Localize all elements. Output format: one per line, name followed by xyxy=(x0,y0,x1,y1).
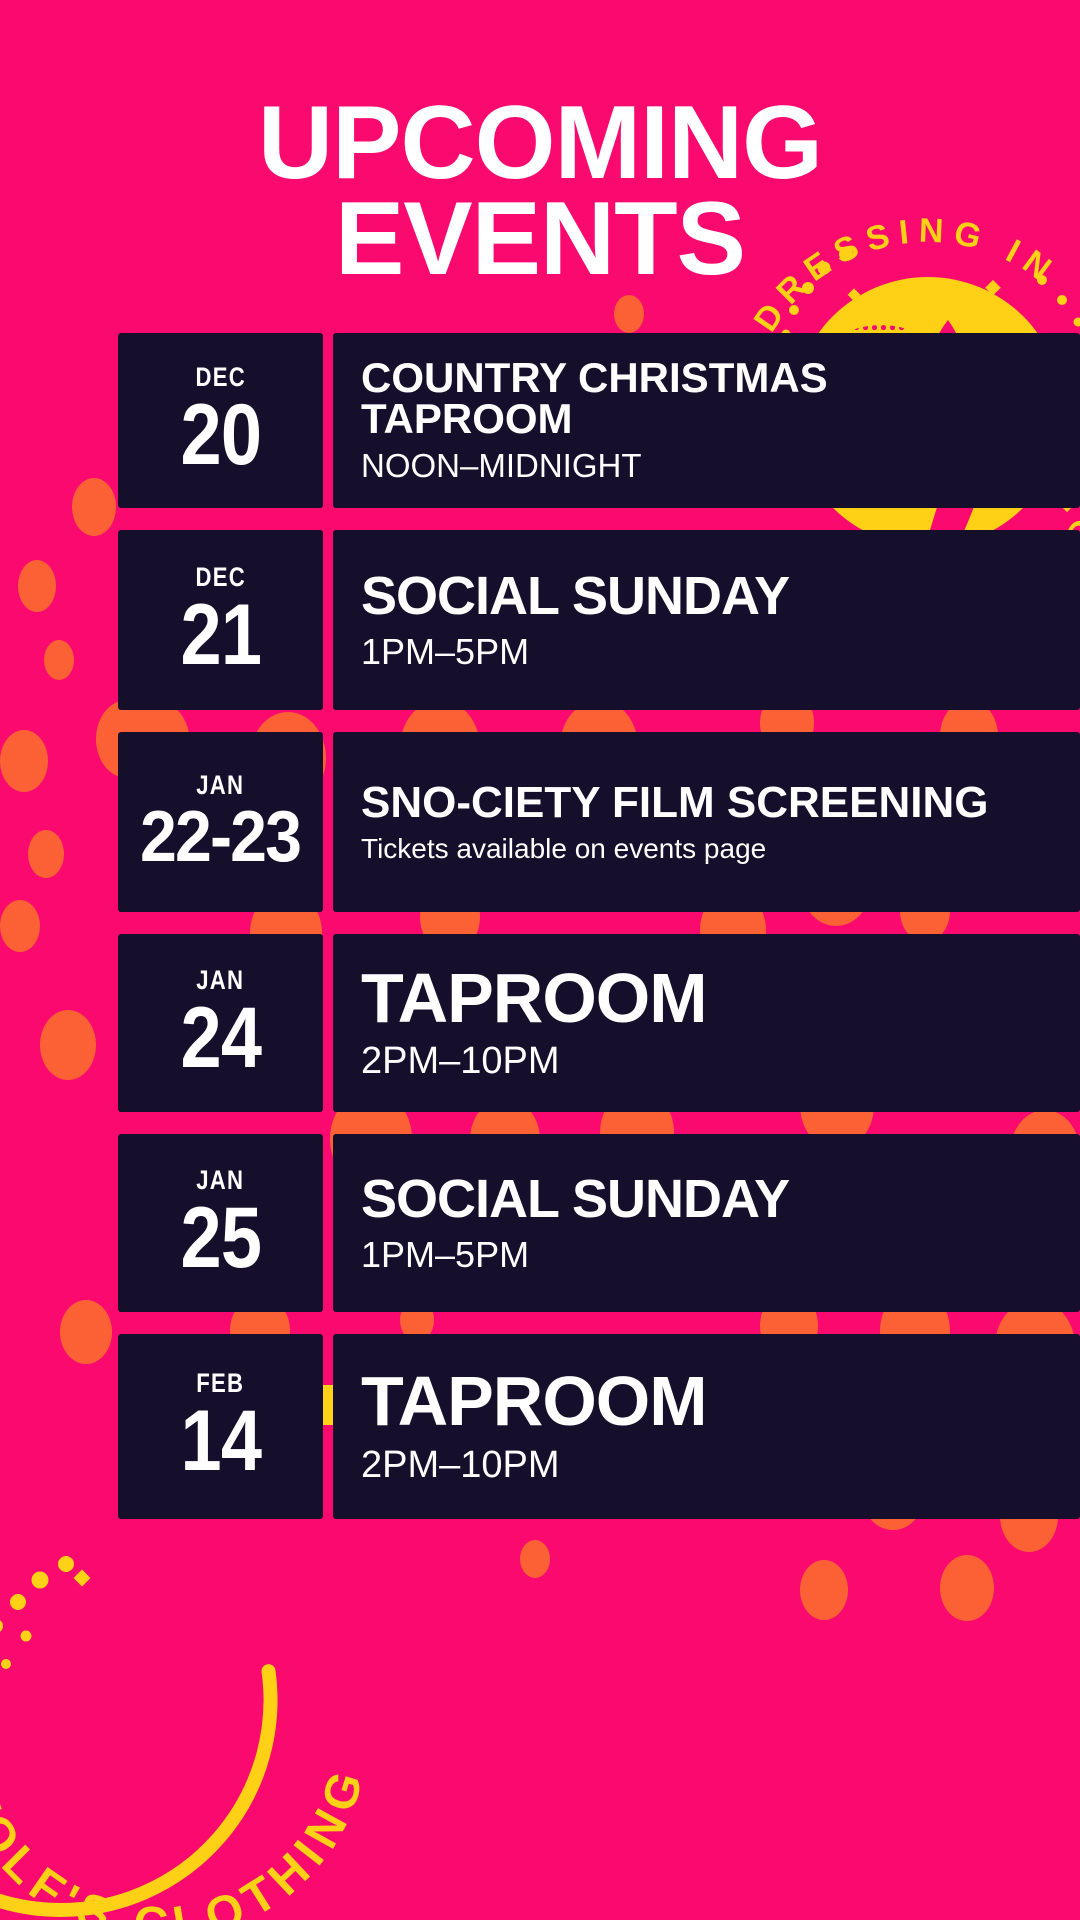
event-info-box: SNO-CIETY FILM SCREENING Tickets availab… xyxy=(333,732,1080,912)
event-title: SOCIAL SUNDAY xyxy=(361,1173,1050,1226)
page-title: UPCOMING EVENTS xyxy=(0,96,1080,287)
event-row[interactable]: FEB 14 TAPROOM 2PM–10PM xyxy=(0,1334,1080,1519)
event-date-box: DEC 20 xyxy=(118,333,323,508)
event-month: JAN xyxy=(197,772,245,799)
event-day: 21 xyxy=(180,597,261,674)
event-row[interactable]: JAN 22-23 SNO-CIETY FILM SCREENING Ticke… xyxy=(0,732,1080,912)
event-subtitle: NOON–MIDNIGHT xyxy=(361,449,1050,484)
event-info-box: SOCIAL SUNDAY 1PM–5PM xyxy=(333,1134,1080,1312)
event-date-box: JAN 25 xyxy=(118,1134,323,1312)
event-title: TAPROOM xyxy=(361,1367,1050,1436)
decorative-dot xyxy=(614,295,644,333)
event-date-box: JAN 24 xyxy=(118,934,323,1112)
event-date-box: JAN 22-23 xyxy=(118,732,323,912)
event-date-box: FEB 14 xyxy=(118,1334,323,1519)
event-subtitle: 2PM–10PM xyxy=(361,1042,1050,1082)
event-title: SOCIAL SUNDAY xyxy=(361,570,1050,623)
event-day: 20 xyxy=(180,397,261,474)
event-row[interactable]: JAN 25 SOCIAL SUNDAY 1PM–5PM xyxy=(0,1134,1080,1312)
event-subtitle: 2PM–10PM xyxy=(361,1446,1050,1486)
event-info-box: COUNTRY CHRISTMAS TAPROOM NOON–MIDNIGHT xyxy=(333,333,1080,508)
event-info-box: SOCIAL SUNDAY 1PM–5PM xyxy=(333,530,1080,710)
brand-arc-text-wolfs: WOLF'S CLOTHING xyxy=(0,1759,376,1920)
row-divider xyxy=(323,1134,333,1312)
decorative-dot xyxy=(940,1555,994,1621)
event-title: SNO-CIETY FILM SCREENING xyxy=(361,781,1050,824)
event-day: 25 xyxy=(180,1200,261,1277)
event-row[interactable]: DEC 20 COUNTRY CHRISTMAS TAPROOM NOON–MI… xyxy=(0,333,1080,508)
event-date-box: DEC 21 xyxy=(118,530,323,710)
title-line-one: UPCOMING xyxy=(0,96,1080,192)
row-divider xyxy=(323,530,333,710)
event-info-box: TAPROOM 2PM–10PM xyxy=(333,934,1080,1112)
row-divider xyxy=(323,333,333,508)
row-divider xyxy=(323,1334,333,1519)
row-divider xyxy=(323,732,333,912)
title-line-two: EVENTS xyxy=(0,192,1080,288)
poster-canvas: DRESSING IN CLOTHING WOLF'S CLOTHING xyxy=(0,0,1080,1920)
event-day: 22-23 xyxy=(140,805,300,870)
event-list: DEC 20 COUNTRY CHRISTMAS TAPROOM NOON–MI… xyxy=(0,333,1080,1541)
decorative-dot xyxy=(800,1560,848,1620)
event-subtitle: 1PM–5PM xyxy=(361,633,1050,671)
event-row[interactable]: DEC 21 SOCIAL SUNDAY 1PM–5PM xyxy=(0,530,1080,710)
event-day: 14 xyxy=(180,1403,261,1480)
event-day: 24 xyxy=(180,1000,261,1077)
event-subtitle: 1PM–5PM xyxy=(361,1236,1050,1274)
row-divider xyxy=(323,934,333,1112)
event-subtitle: Tickets available on events page xyxy=(361,834,1050,863)
event-title: TAPROOM xyxy=(361,964,1050,1033)
event-row[interactable]: JAN 24 TAPROOM 2PM–10PM xyxy=(0,934,1080,1112)
decorative-dot xyxy=(520,1540,550,1578)
event-title: COUNTRY CHRISTMAS TAPROOM xyxy=(361,357,1050,439)
event-info-box: TAPROOM 2PM–10PM xyxy=(333,1334,1080,1519)
